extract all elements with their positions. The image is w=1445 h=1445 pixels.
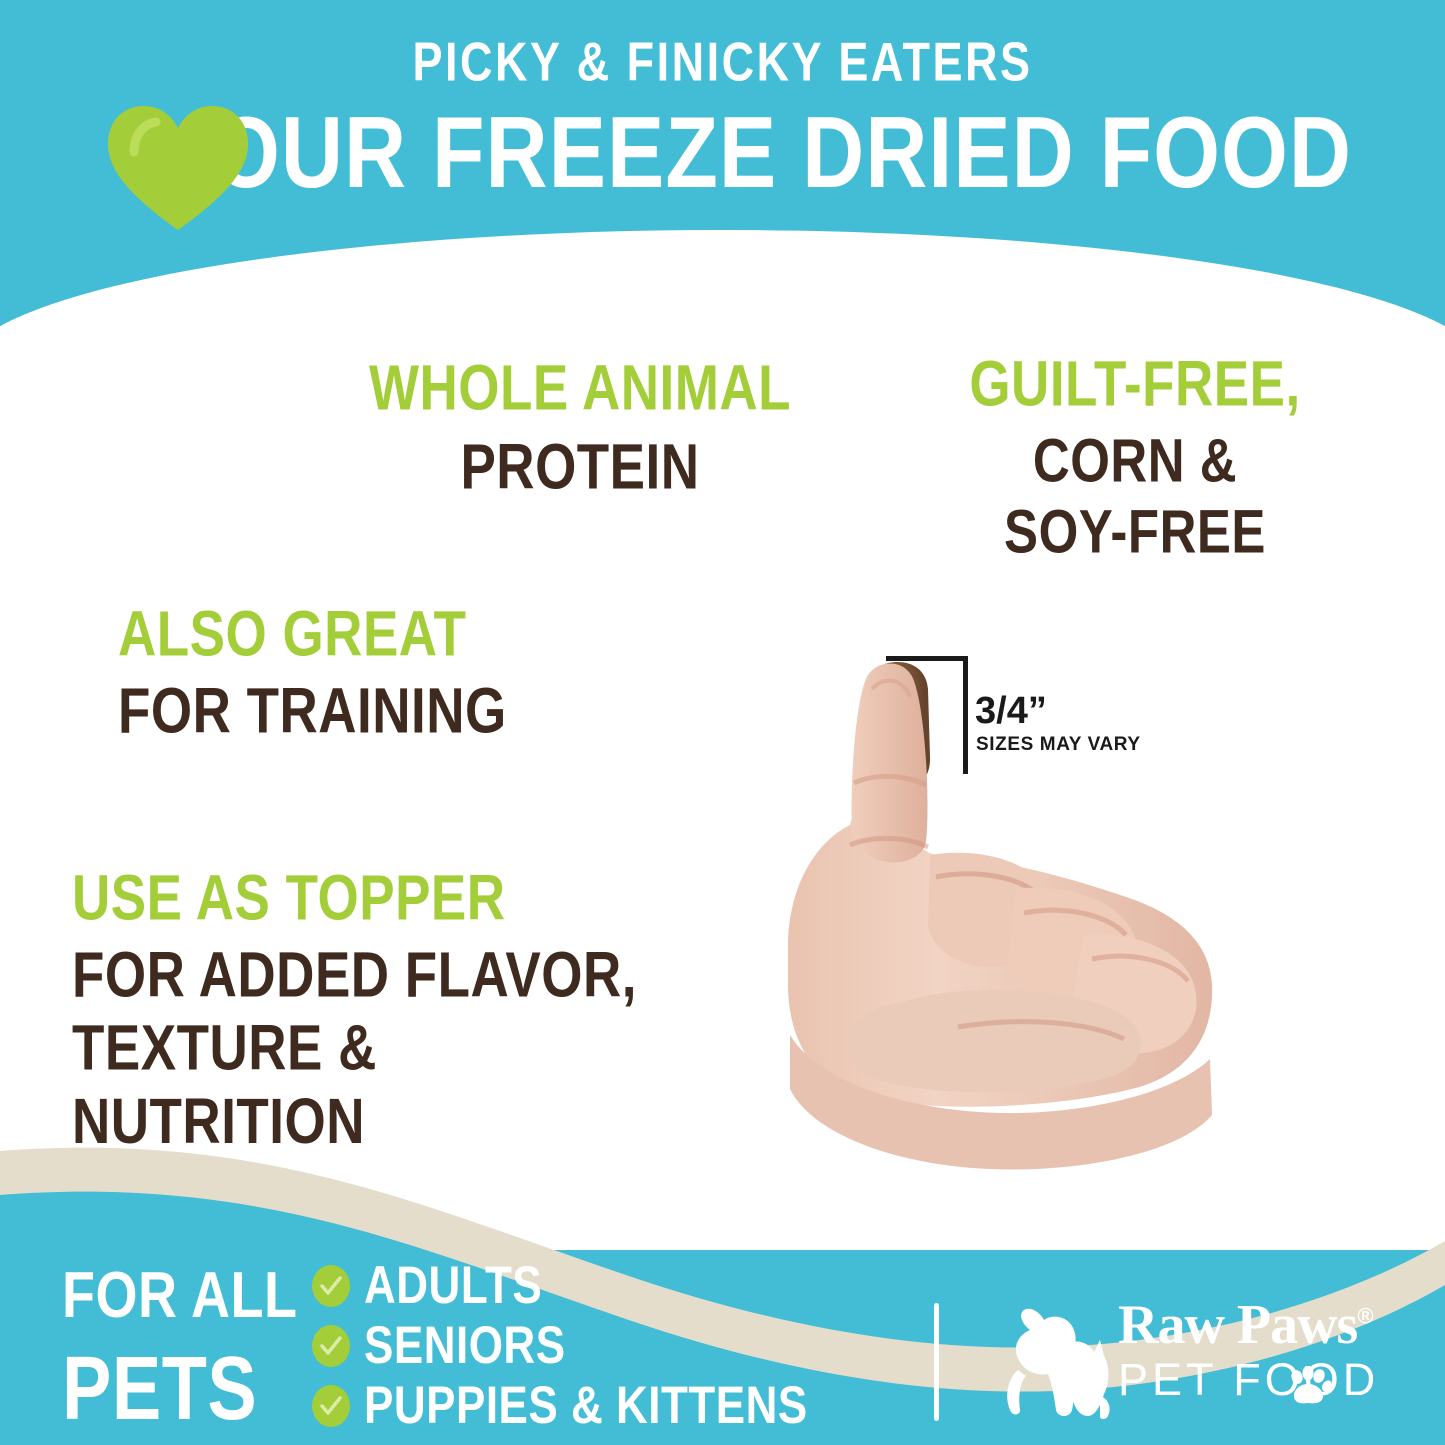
footer-checklist: ADULTS SENIORS PUPPIES & KITTENS	[312, 1258, 808, 1438]
measurement-bracket	[886, 656, 968, 774]
checklist-label: PUPPIES & KITTENS	[364, 1376, 808, 1436]
footer-divider	[934, 1303, 939, 1421]
feature-headline: ALSO GREAT	[118, 598, 598, 671]
logo-wordmark: Raw Paws® PET FOOD	[1118, 1296, 1428, 1402]
feature-also-great-for-training: ALSO GREAT FOR TRAINING	[118, 598, 598, 736]
feature-whole-animal-protein: WHOLE ANIMAL PROTEIN	[300, 352, 860, 492]
check-icon	[312, 1325, 350, 1367]
dog-cat-silhouette-icon	[1000, 1300, 1112, 1422]
feature-headline: WHOLE ANIMAL	[300, 352, 860, 425]
feature-subline: CORN &	[930, 425, 1340, 496]
measurement-note: SIZES MAY VARY	[976, 734, 1141, 756]
paw-print-icon	[1288, 1366, 1332, 1406]
bracket-vertical-line	[963, 656, 968, 774]
checklist-label: SENIORS	[364, 1316, 566, 1376]
check-icon	[312, 1385, 350, 1427]
feature-subline: PROTEIN	[300, 431, 860, 504]
footer-heading-line1: FOR ALL	[62, 1258, 312, 1332]
bracket-top-tick	[886, 656, 968, 661]
heart-icon	[104, 100, 252, 232]
header-subtitle: PICKY & FINICKY EATERS	[0, 30, 1445, 93]
feature-subline: FOR ADDED FLAVOR,	[72, 939, 672, 1012]
logo-brand-name: Raw Paws®	[1118, 1296, 1428, 1355]
check-icon	[312, 1265, 350, 1307]
feature-guilt-free: GUILT-FREE, CORN & SOY-FREE	[930, 348, 1340, 555]
brand-logo: Raw Paws® PET FOOD	[1000, 1300, 1420, 1430]
feature-headline: GUILT-FREE,	[930, 348, 1340, 421]
footer-heading-line2: PETS	[62, 1336, 312, 1440]
list-item: PUPPIES & KITTENS	[312, 1378, 808, 1433]
measurement-size-label: 3/4”	[975, 690, 1047, 733]
registered-mark-icon: ®	[1357, 1303, 1372, 1328]
checklist-label: ADULTS	[364, 1256, 542, 1316]
feature-subline-2: SOY-FREE	[930, 496, 1340, 567]
feature-headline: USE AS TOPPER	[72, 862, 672, 935]
infographic-poster: PICKY & FINICKY EATERS OUR FREEZE DRIED …	[0, 0, 1445, 1445]
list-item: SENIORS	[312, 1318, 808, 1373]
feature-subline: FOR TRAINING	[118, 675, 598, 748]
logo-tagline: PET FOOD	[1118, 1357, 1428, 1402]
header: PICKY & FINICKY EATERS OUR FREEZE DRIED …	[0, 0, 1445, 235]
list-item: ADULTS	[312, 1258, 808, 1313]
footer-heading: FOR ALL PETS	[62, 1258, 312, 1421]
